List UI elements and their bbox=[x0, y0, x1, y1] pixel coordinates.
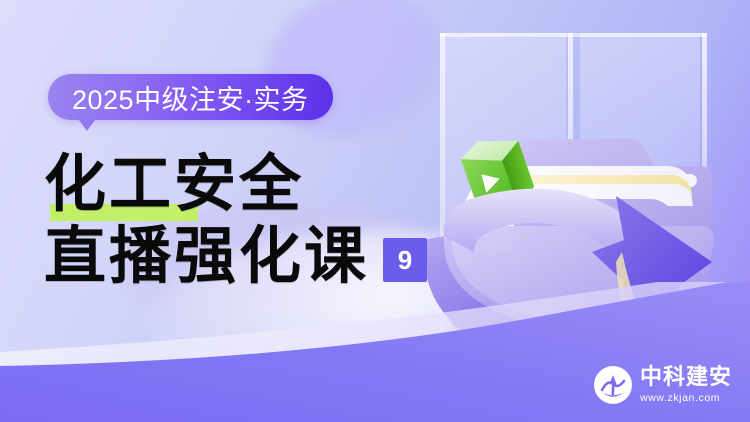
brand-logo-text: 中科建安 www.zkjan.com bbox=[640, 367, 732, 404]
document-sheets bbox=[457, 166, 693, 254]
course-category-badge: 2025中级注安·实务 bbox=[48, 74, 333, 120]
curved-arrow-ribbon bbox=[424, 189, 712, 370]
course-category-label: 2025中级注安·实务 bbox=[72, 78, 309, 117]
headline-row-2: 直播强化课 9 bbox=[44, 220, 427, 292]
headline-line-2: 直播强化课 bbox=[44, 220, 369, 292]
green-play-cube bbox=[458, 132, 538, 216]
headline-row-1: 化工安全 bbox=[44, 148, 427, 220]
play-triangle-icon bbox=[481, 171, 502, 193]
brand-logo: 中科建安 www.zkjan.com bbox=[594, 366, 732, 404]
brand-name: 中科建安 bbox=[640, 367, 732, 389]
course-category-pill: 2025中级注安·实务 bbox=[48, 74, 333, 120]
glass-panel-top-edge bbox=[440, 33, 707, 37]
course-promo-banner: 2025中级注安·实务 化工安全 直播强化课 9 中科建安 www.zkjan bbox=[0, 0, 750, 422]
zkjan-circle-arrow-logo-icon bbox=[594, 366, 632, 404]
headline-line-1: 化工安全 bbox=[44, 148, 304, 220]
glass-panel-left bbox=[444, 33, 566, 363]
brand-url: www.zkjan.com bbox=[640, 393, 732, 404]
pill-tail bbox=[76, 116, 98, 131]
glass-panel-edge-1 bbox=[440, 33, 445, 365]
purple-folder bbox=[493, 139, 712, 248]
folder-front bbox=[443, 226, 713, 334]
headline-block: 化工安全 直播强化课 9 bbox=[44, 148, 427, 292]
glass-panel-right bbox=[580, 33, 700, 363]
glass-panel-edge-2 bbox=[568, 33, 573, 365]
glass-panel-edge-3 bbox=[702, 33, 707, 365]
episode-number-badge: 9 bbox=[383, 238, 427, 282]
